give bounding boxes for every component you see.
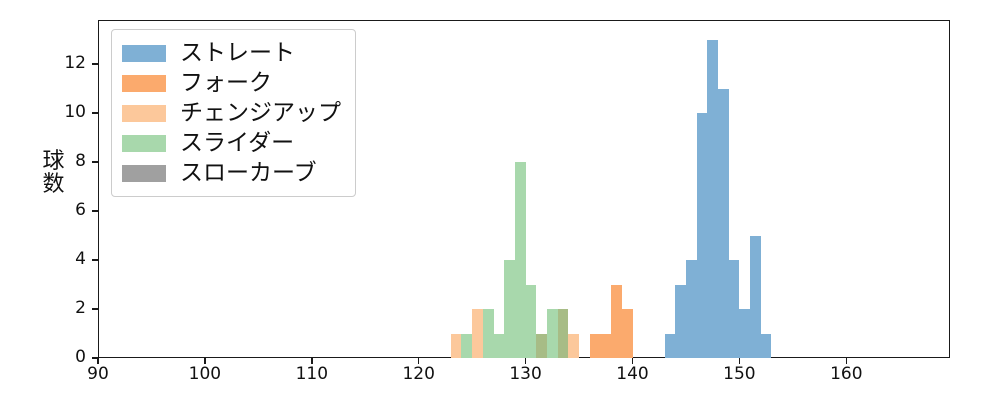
x-tick-label: 90 — [68, 364, 128, 384]
x-tick-label: 150 — [709, 364, 769, 384]
y-tick-label: 6 — [52, 200, 86, 220]
legend-swatch-icon — [122, 45, 166, 62]
histogram-bar — [504, 260, 515, 358]
histogram-bar — [472, 309, 483, 358]
histogram-bar — [483, 309, 494, 358]
histogram-bar — [761, 334, 772, 358]
legend-swatch-icon — [122, 165, 166, 182]
legend-item[interactable]: フォーク — [122, 68, 341, 98]
legend-item[interactable]: ストレート — [122, 38, 341, 68]
histogram-bar — [568, 334, 579, 358]
legend-swatch-icon — [122, 105, 166, 122]
legend-swatch-icon — [122, 135, 166, 152]
histogram-bar — [729, 260, 740, 358]
histogram-bar — [494, 334, 505, 358]
y-tick-label: 12 — [52, 53, 86, 73]
legend-label: フォーク — [180, 72, 272, 95]
y-tick-label: 4 — [52, 249, 86, 269]
x-tick-label: 140 — [603, 364, 663, 384]
legend-item[interactable]: スローカーブ — [122, 158, 341, 188]
x-tick-label: 160 — [816, 364, 876, 384]
histogram-bar — [707, 40, 718, 358]
histogram-bar — [665, 334, 676, 358]
histogram-bar — [675, 285, 686, 358]
histogram-bar — [622, 309, 633, 358]
chart-root: 球数 024681012 90100110120130140150160 ストレ… — [0, 0, 1000, 400]
x-tick-label: 100 — [175, 364, 235, 384]
legend-swatch-icon — [122, 75, 166, 92]
histogram-bar — [590, 334, 601, 358]
histogram-bar — [750, 236, 761, 358]
histogram-bar — [526, 285, 537, 358]
histogram-bar — [461, 334, 472, 358]
x-tick-label: 110 — [282, 364, 342, 384]
y-tick-label: 2 — [52, 298, 86, 318]
histogram-bar — [536, 334, 547, 358]
histogram-bar — [739, 309, 750, 358]
histogram-bar — [600, 334, 611, 358]
histogram-bar — [686, 260, 697, 358]
legend: ストレートフォークチェンジアップスライダースローカーブ — [111, 29, 356, 197]
histogram-bar — [547, 309, 558, 358]
legend-label: チェンジアップ — [180, 102, 341, 125]
legend-label: スライダー — [180, 132, 294, 155]
legend-label: スローカーブ — [180, 162, 317, 185]
legend-item[interactable]: チェンジアップ — [122, 98, 341, 128]
x-tick-label: 120 — [389, 364, 449, 384]
legend-item[interactable]: スライダー — [122, 128, 341, 158]
y-tick-label: 8 — [52, 151, 86, 171]
histogram-bar — [451, 334, 462, 358]
legend-label: ストレート — [180, 42, 295, 65]
x-tick-label: 130 — [496, 364, 556, 384]
y-tick-label: 10 — [52, 102, 86, 122]
histogram-bar — [515, 162, 526, 358]
histogram-bar — [611, 285, 622, 358]
histogram-bar — [718, 89, 729, 358]
histogram-bar — [558, 309, 569, 358]
histogram-bar — [697, 113, 708, 358]
